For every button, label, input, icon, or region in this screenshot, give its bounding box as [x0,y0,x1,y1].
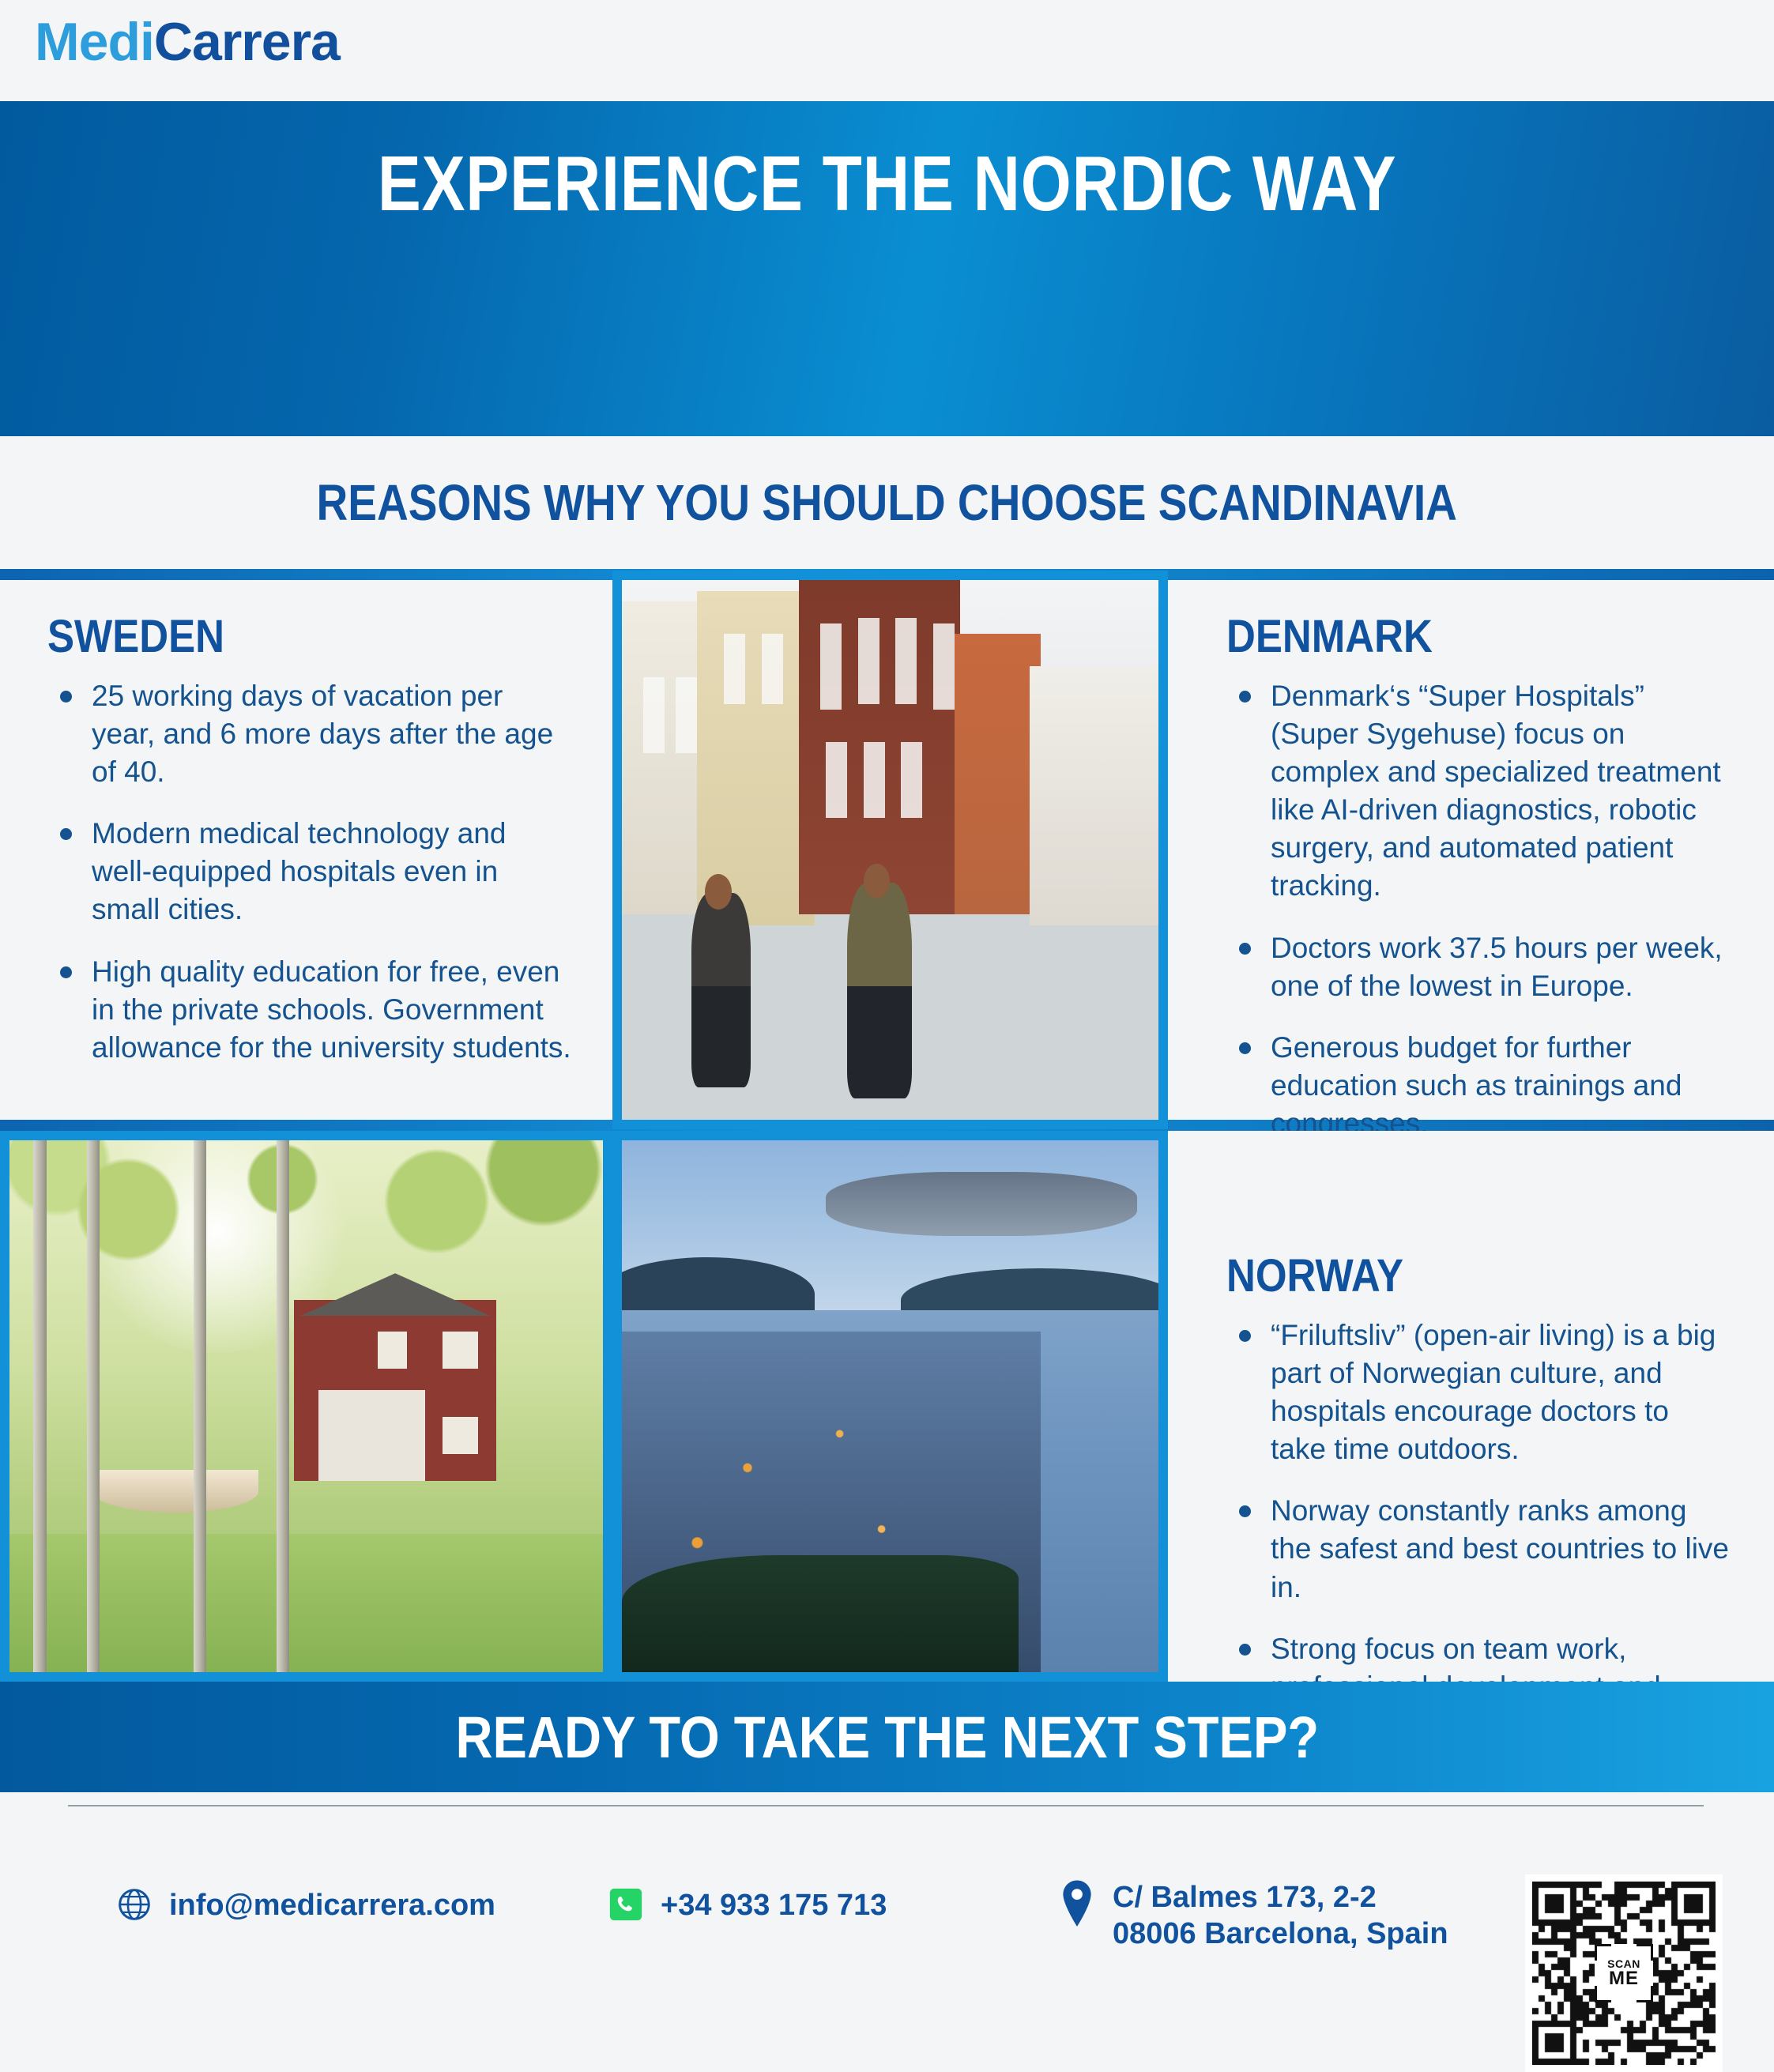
photo-window [643,677,665,753]
section-sweden: SWEDEN 25 working days of vacation per y… [0,580,612,1120]
photo-window [901,742,922,818]
footer: info@medicarrera.com +34 933 175 713 C/ … [0,1792,1774,2054]
list-item: Doctors work 37.5 hours per week, one of… [1226,929,1730,1005]
photo-person-head [705,874,732,909]
section-title-norway: NORWAY [1226,1249,1670,1302]
photo-person-head [864,864,891,898]
logo-text-medi: Medi [35,12,154,72]
logo-text-carrera: Carrera [154,12,340,72]
bullet-list-norway: “Friluftsliv” (open-air living) is a big… [1226,1317,1730,1744]
photo-window [820,623,842,710]
content-grid: SWEDEN 25 working days of vacation per y… [0,569,1774,1682]
norway-fjord-photo [612,1131,1168,1682]
qr-scan-me-label: SCAN ME [1595,1944,1653,2002]
photo-house-porch [318,1390,425,1480]
photo-building [955,634,1041,914]
contact-email[interactable]: info@medicarrera.com [117,1887,495,1923]
list-item: High quality education for free, even in… [47,953,571,1067]
list-item: Modern medical technology and well-equip… [47,815,571,929]
photo-person-cyclist [691,893,751,1087]
photo-window [858,618,879,704]
cta-banner: READY TO TAKE THE NEXT STEP? [0,1682,1774,1792]
denmark-street-photo [612,571,1168,1129]
photo-birch-trunk [87,1140,100,1672]
qr-code[interactable]: SCAN ME [1532,1882,1716,2065]
photo-window [864,742,885,818]
logo-bar: MediCarrera [0,0,1774,101]
photo-person-cyclist [847,883,911,1098]
section-title-denmark: DENMARK [1226,610,1670,663]
brand-logo[interactable]: MediCarrera [35,11,340,73]
photo-window [443,1417,478,1454]
list-item: “Friluftsliv” (open-air living) is a big… [1226,1317,1730,1468]
subheading-text: REASONS WHY YOU SHOULD CHOOSE SCANDINAVI… [317,473,1457,532]
list-item: Denmark‘s “Super Hospitals” (Super Sygeh… [1226,677,1730,906]
bullet-list-sweden: 25 working days of vacation per year, an… [47,677,571,1067]
photo-window [826,742,847,818]
photo-hammock [92,1470,258,1513]
list-item: 25 working days of vacation per year, an… [47,677,571,791]
photo-forest [622,1555,1019,1672]
contact-row: info@medicarrera.com +34 933 175 713 C/ … [0,1841,1774,1983]
list-item: Norway constantly ranks among the safest… [1226,1492,1730,1606]
hero-banner: EXPERIENCE THE NORDIC WAY [0,101,1774,436]
contact-phone[interactable]: +34 933 175 713 [608,1887,887,1923]
photo-window [443,1332,478,1369]
photo-window [378,1332,408,1369]
contact-address-text: C/ Balmes 173, 2-2 08006 Barcelona, Spai… [1113,1879,1448,1953]
section-title-sweden: SWEDEN [47,610,508,663]
bullet-list-denmark: Denmark‘s “Super Hospitals” (Super Sygeh… [1226,677,1730,1143]
photo-birch-trunk [33,1140,47,1672]
hero-title: EXPERIENCE THE NORDIC WAY [378,139,1397,228]
list-item: Generous budget for further education su… [1226,1029,1730,1143]
footer-divider [68,1805,1704,1806]
photo-window [676,677,697,753]
sweden-house-photo [0,1131,612,1682]
location-pin-icon [1059,1879,1095,1928]
globe-icon [117,1887,152,1922]
contact-address[interactable]: C/ Balmes 173, 2-2 08006 Barcelona, Spai… [1059,1879,1448,1953]
whatsapp-icon [608,1887,643,1922]
photo-birch-trunk [277,1140,290,1672]
photo-window [762,634,783,704]
section-denmark: DENMARK Denmark‘s “Super Hospitals” (Sup… [1168,580,1774,1120]
photo-window [724,634,745,704]
subheading-bar: REASONS WHY YOU SHOULD CHOOSE SCANDINAVI… [0,436,1774,569]
qr-label-line2: ME [1609,1969,1639,1988]
qr-code-block[interactable]: SCAN ME [1525,1874,1723,2072]
photo-cloud [826,1172,1137,1236]
contact-phone-text: +34 933 175 713 [661,1887,887,1923]
photo-birch-trunk [194,1140,207,1672]
cta-text: READY TO TAKE THE NEXT STEP? [455,1704,1319,1771]
poster-page: MediCarrera EXPERIENCE THE NORDIC WAY RE… [0,0,1774,2054]
contact-email-text: info@medicarrera.com [169,1887,495,1923]
photo-window [895,618,917,704]
section-norway: NORWAY “Friluftsliv” (open-air living) i… [1168,1131,1774,1682]
photo-building [1030,666,1158,925]
photo-window [933,623,955,710]
